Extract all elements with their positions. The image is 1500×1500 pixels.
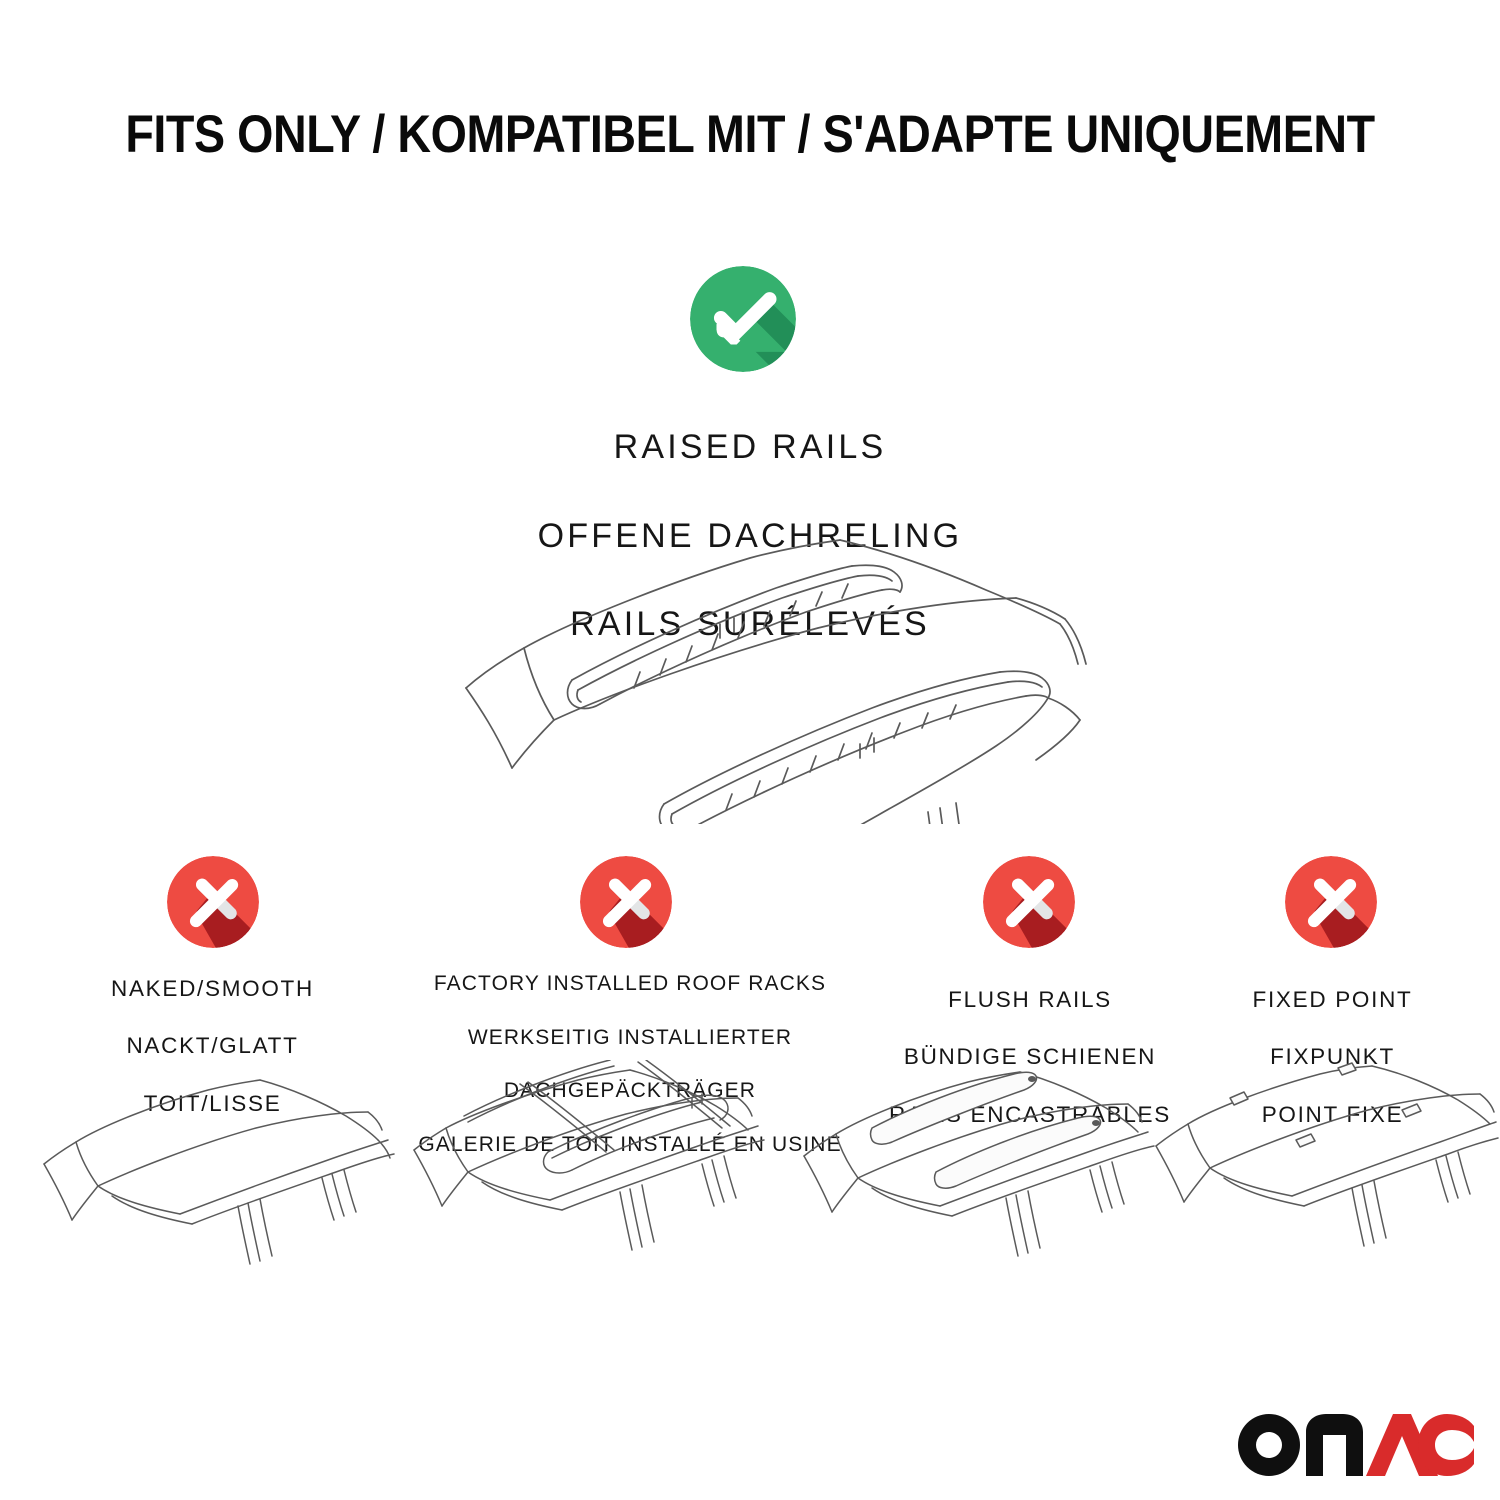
car-roof-fixed-point-illustration	[1152, 1062, 1500, 1312]
car-roof-raised-rails-illustration	[420, 512, 1088, 824]
caption-line: FACTORY INSTALLED ROOF RACKS	[395, 971, 865, 998]
omac-logo	[1238, 1412, 1474, 1478]
caption-line: FIXED POINT	[1185, 986, 1480, 1015]
caption-line: NACKT/GLATT	[40, 1032, 385, 1061]
car-roof-naked-smooth-illustration	[32, 1062, 400, 1312]
cross-circle-icon	[1285, 856, 1377, 948]
caption-line: NAKED/SMOOTH	[40, 975, 385, 1004]
compatible-caption-line-1: RAISED RAILS	[370, 425, 1130, 469]
page-title: FITS ONLY / KOMPATIBEL MIT / S'ADAPTE UN…	[90, 104, 1410, 165]
cross-circle-icon	[167, 856, 259, 948]
cross-circle-icon	[983, 856, 1075, 948]
cross-circle-icon	[580, 856, 672, 948]
caption-line: FLUSH RAILS	[855, 986, 1205, 1015]
fitment-guide-page: FITS ONLY / KOMPATIBEL MIT / S'ADAPTE UN…	[0, 0, 1500, 1500]
car-roof-flush-rails-illustration	[792, 1062, 1160, 1312]
caption-line: WERKSEITIG INSTALLIERTER	[395, 1025, 865, 1052]
check-circle-icon	[690, 266, 796, 372]
car-roof-factory-racks-illustration	[402, 1060, 770, 1312]
